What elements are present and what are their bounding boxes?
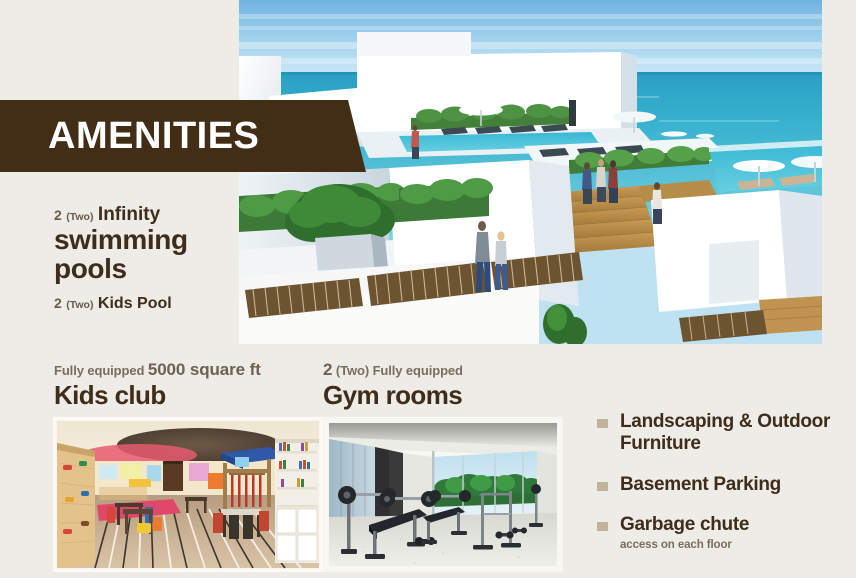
bullet-label: Garbage chute: [620, 514, 749, 536]
kids-club-illustration: [53, 417, 323, 572]
gym-illustration: [323, 417, 563, 572]
gym-kicker-text: Fully equipped: [373, 363, 463, 378]
pools-qty-word: (Two): [66, 211, 93, 223]
bullet-label: Basement Parking: [620, 474, 781, 496]
square-bullet-icon: [597, 419, 608, 428]
page-title: AMENITIES: [0, 117, 259, 155]
kids-club-image: [53, 417, 323, 572]
kids-pool-label: Kids Pool: [98, 295, 172, 312]
square-bullet-icon: [597, 482, 608, 491]
amenities-banner: AMENITIES: [0, 100, 366, 172]
kids-pool-line: 2 (Two) Kids Pool: [54, 295, 234, 313]
amenities-brochure-page: AMENITIES 2 (Two) Infinity swimming pool…: [0, 0, 856, 578]
gym-image: [323, 417, 563, 572]
kids-club-area: 5000 square ft: [148, 360, 261, 379]
kids-club-heading-block: Fully equipped 5000 square ft Kids club: [54, 360, 261, 410]
kids-club-title: Kids club: [54, 381, 261, 410]
kids-club-kicker: Fully equipped 5000 square ft: [54, 360, 261, 380]
kids-pool-qty-word: (Two): [66, 299, 93, 311]
pools-keyword: Infinity: [98, 204, 160, 225]
pools-kicker-line: 2 (Two) Infinity: [54, 205, 234, 225]
gym-qty-word: (Two): [336, 363, 369, 378]
gym-title: Gym rooms: [323, 381, 463, 410]
list-item: Garbage chute access on each floor: [597, 514, 847, 550]
list-item: Landscaping & Outdoor Furniture: [597, 411, 847, 456]
kids-pool-qty-number: 2: [54, 295, 62, 311]
list-item: Basement Parking: [597, 474, 847, 496]
kids-club-kicker-text: Fully equipped: [54, 363, 144, 378]
hero-pool-image: [239, 0, 822, 344]
gym-heading-block: 2 (Two) Fully equipped Gym rooms: [323, 360, 463, 410]
amenities-bullet-list: Landscaping & Outdoor Furniture Basement…: [597, 411, 847, 551]
pools-headline: swimming pools: [54, 226, 234, 284]
hero-pool-illustration: [239, 0, 822, 344]
gym-qty-number: 2: [323, 360, 332, 379]
infinity-pools-text-block: 2 (Two) Infinity swimming pools 2 (Two) …: [54, 205, 234, 313]
bullet-sublabel: access on each floor: [620, 539, 749, 551]
gym-kicker: 2 (Two) Fully equipped: [323, 360, 463, 380]
bullet-label: Landscaping & Outdoor Furniture: [620, 411, 847, 456]
pools-qty-number: 2: [54, 207, 62, 223]
square-bullet-icon: [597, 522, 608, 531]
